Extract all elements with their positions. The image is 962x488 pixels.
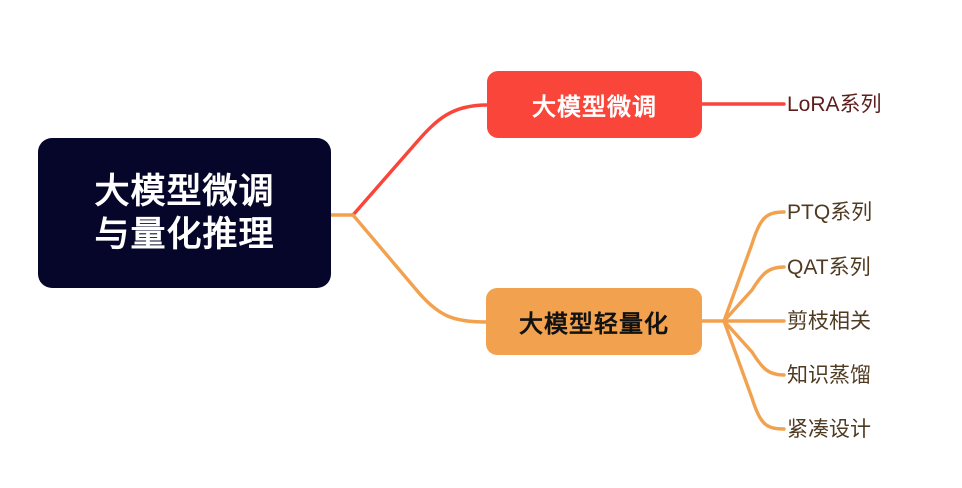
leaf-label-lora[interactable]: LoRA系列 — [787, 94, 882, 115]
branch-node-lightweight-label: 大模型轻量化 — [519, 304, 669, 339]
branch-node-finetune[interactable]: 大模型微调 — [487, 71, 702, 138]
mindmap-canvas: 大模型微调 与量化推理 大模型微调 大模型轻量化 LoRA系列 PTQ系列 QA… — [0, 0, 962, 488]
leaf-label-pruning[interactable]: 剪枝相关 — [787, 311, 871, 332]
root-node-label-line1: 大模型微调 — [94, 170, 274, 213]
root-node-label-line2: 与量化推理 — [94, 213, 274, 256]
connector-root-to-finetune — [353, 105, 487, 215]
connector-root-to-lightweight — [353, 215, 486, 322]
leaf-label-compact[interactable]: 紧凑设计 — [787, 419, 871, 440]
branch-node-finetune-label: 大模型微调 — [532, 87, 657, 122]
leaf-label-qat[interactable]: QAT系列 — [787, 257, 871, 278]
leaf-label-distillation[interactable]: 知识蒸馏 — [787, 365, 871, 386]
root-node-label: 大模型微调 与量化推理 — [94, 170, 274, 257]
leaf-label-ptq[interactable]: PTQ系列 — [787, 202, 872, 223]
branch-node-lightweight[interactable]: 大模型轻量化 — [486, 288, 702, 355]
root-node[interactable]: 大模型微调 与量化推理 — [38, 138, 331, 288]
